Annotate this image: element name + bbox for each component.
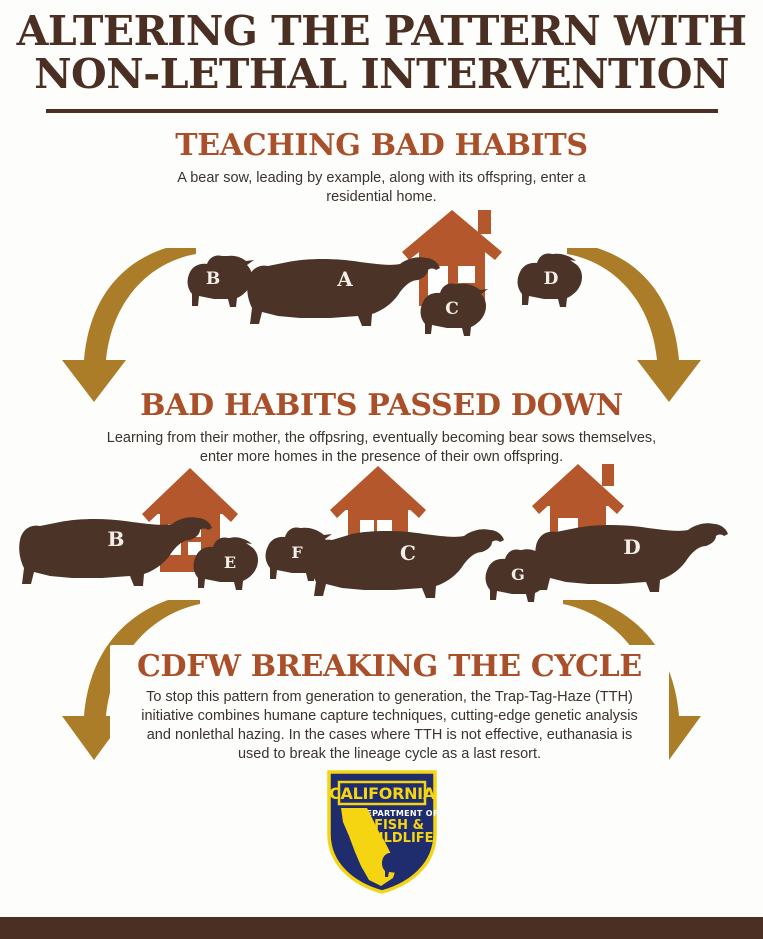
- cub-label-b: B: [206, 269, 220, 289]
- bear-cub-d: D: [518, 253, 582, 307]
- cub-label-f: F: [291, 543, 303, 562]
- sow-label-d: D: [623, 535, 640, 559]
- bear-cub-b: B: [188, 255, 254, 307]
- section-cdfw-breaking-the-cycle: CDFW BREAKING THE CYCLE To stop this pat…: [110, 645, 669, 771]
- section-bad-habits-passed-down: BAD HABITS PASSED DOWN Learning from the…: [0, 388, 763, 467]
- cub-label-g: G: [511, 565, 525, 584]
- logo-california-text: CALIFORNIA: [329, 784, 436, 803]
- footer-bar: [0, 917, 763, 939]
- cub-label-d: D: [544, 269, 559, 289]
- title-line-2: NON-LETHAL INTERVENTION: [0, 53, 763, 96]
- cdfw-logo-svg: CALIFORNIA DEPARTMENT OF FISH & WILDLIFE: [323, 768, 441, 896]
- section-teaching-bad-habits: TEACHING BAD HABITS A bear sow, leading …: [0, 128, 763, 207]
- scene-first-generation: B A C D: [0, 206, 763, 356]
- generation-group-c: F C: [266, 466, 504, 598]
- section-2-heading: BAD HABITS PASSED DOWN: [0, 388, 763, 423]
- generation-group-b: B E: [19, 468, 258, 590]
- section-3-body: To stop this pattern from generation to …: [137, 688, 642, 765]
- scene2-svg: B E F C: [0, 462, 763, 612]
- section-1-body: A bear sow, leading by example, along wi…: [172, 169, 592, 207]
- scene-second-generation: B E F C: [0, 462, 763, 612]
- section-3-heading: CDFW BREAKING THE CYCLE: [118, 649, 661, 684]
- page-title: ALTERING THE PATTERN WITH NON-LETHAL INT…: [0, 0, 763, 113]
- cdfw-logo: CALIFORNIA DEPARTMENT OF FISH & WILDLIFE: [0, 768, 763, 901]
- section-1-heading: TEACHING BAD HABITS: [0, 128, 763, 163]
- generation-group-d: G D: [486, 464, 728, 602]
- cub-label-e: E: [224, 553, 236, 572]
- sow-label-c: C: [400, 541, 416, 565]
- section-2-body: Learning from their mother, the offpsrin…: [102, 429, 662, 467]
- cub-label-c: C: [445, 299, 459, 319]
- sow-label-b: B: [108, 527, 125, 551]
- scene1-svg: B A C D: [0, 206, 763, 356]
- sow-label-a: A: [336, 267, 353, 291]
- bear-sow-a: A: [247, 257, 440, 326]
- title-divider: [46, 109, 718, 113]
- title-line-1: ALTERING THE PATTERN WITH: [0, 10, 763, 53]
